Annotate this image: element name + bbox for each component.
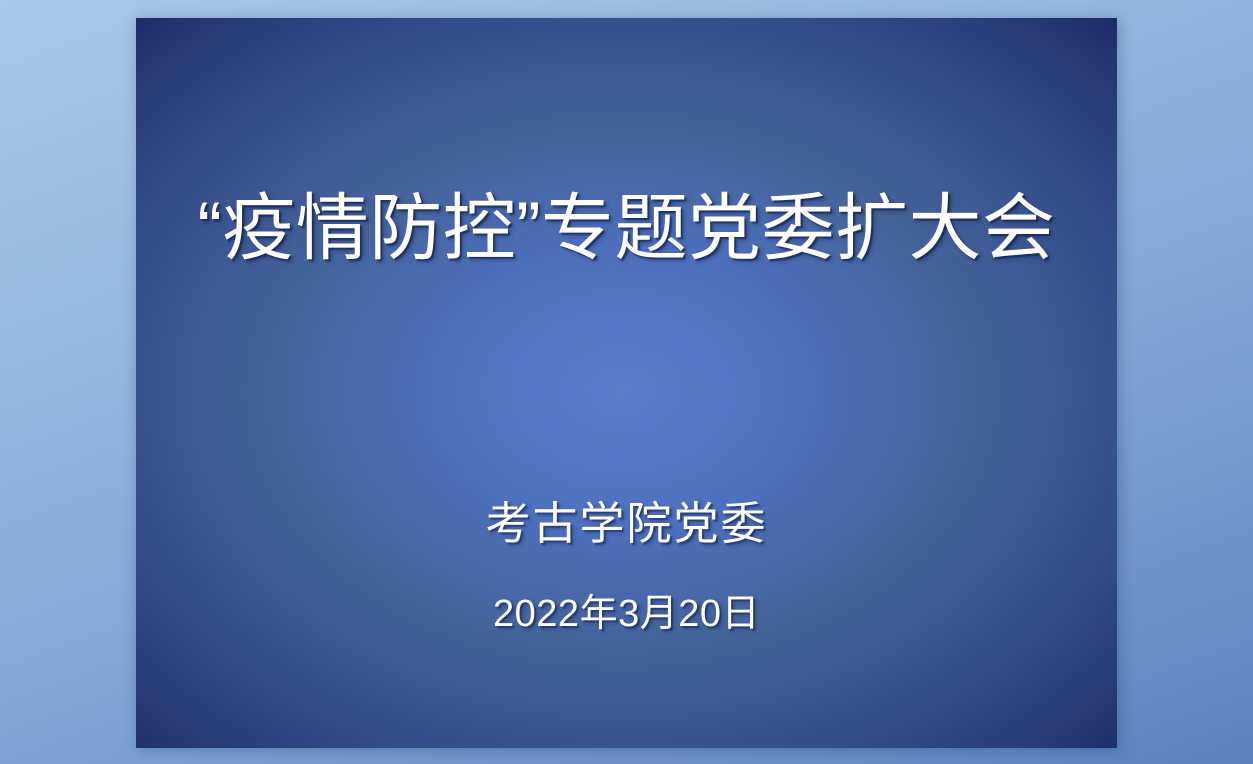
slide-title: “疫情防控”专题党委扩大会 — [136, 192, 1117, 265]
slide-content: “疫情防控”专题党委扩大会 考古学院党委 2022年3月20日 — [136, 18, 1117, 748]
slide-date: 2022年3月20日 — [136, 595, 1117, 633]
slide-panel-background: “疫情防控”专题党委扩大会 考古学院党委 2022年3月20日 — [136, 18, 1117, 748]
presentation-slide: “疫情防控”专题党委扩大会 考古学院党委 2022年3月20日 — [0, 0, 1253, 764]
slide-subtitle-organization: 考古学院党委 — [136, 501, 1117, 546]
